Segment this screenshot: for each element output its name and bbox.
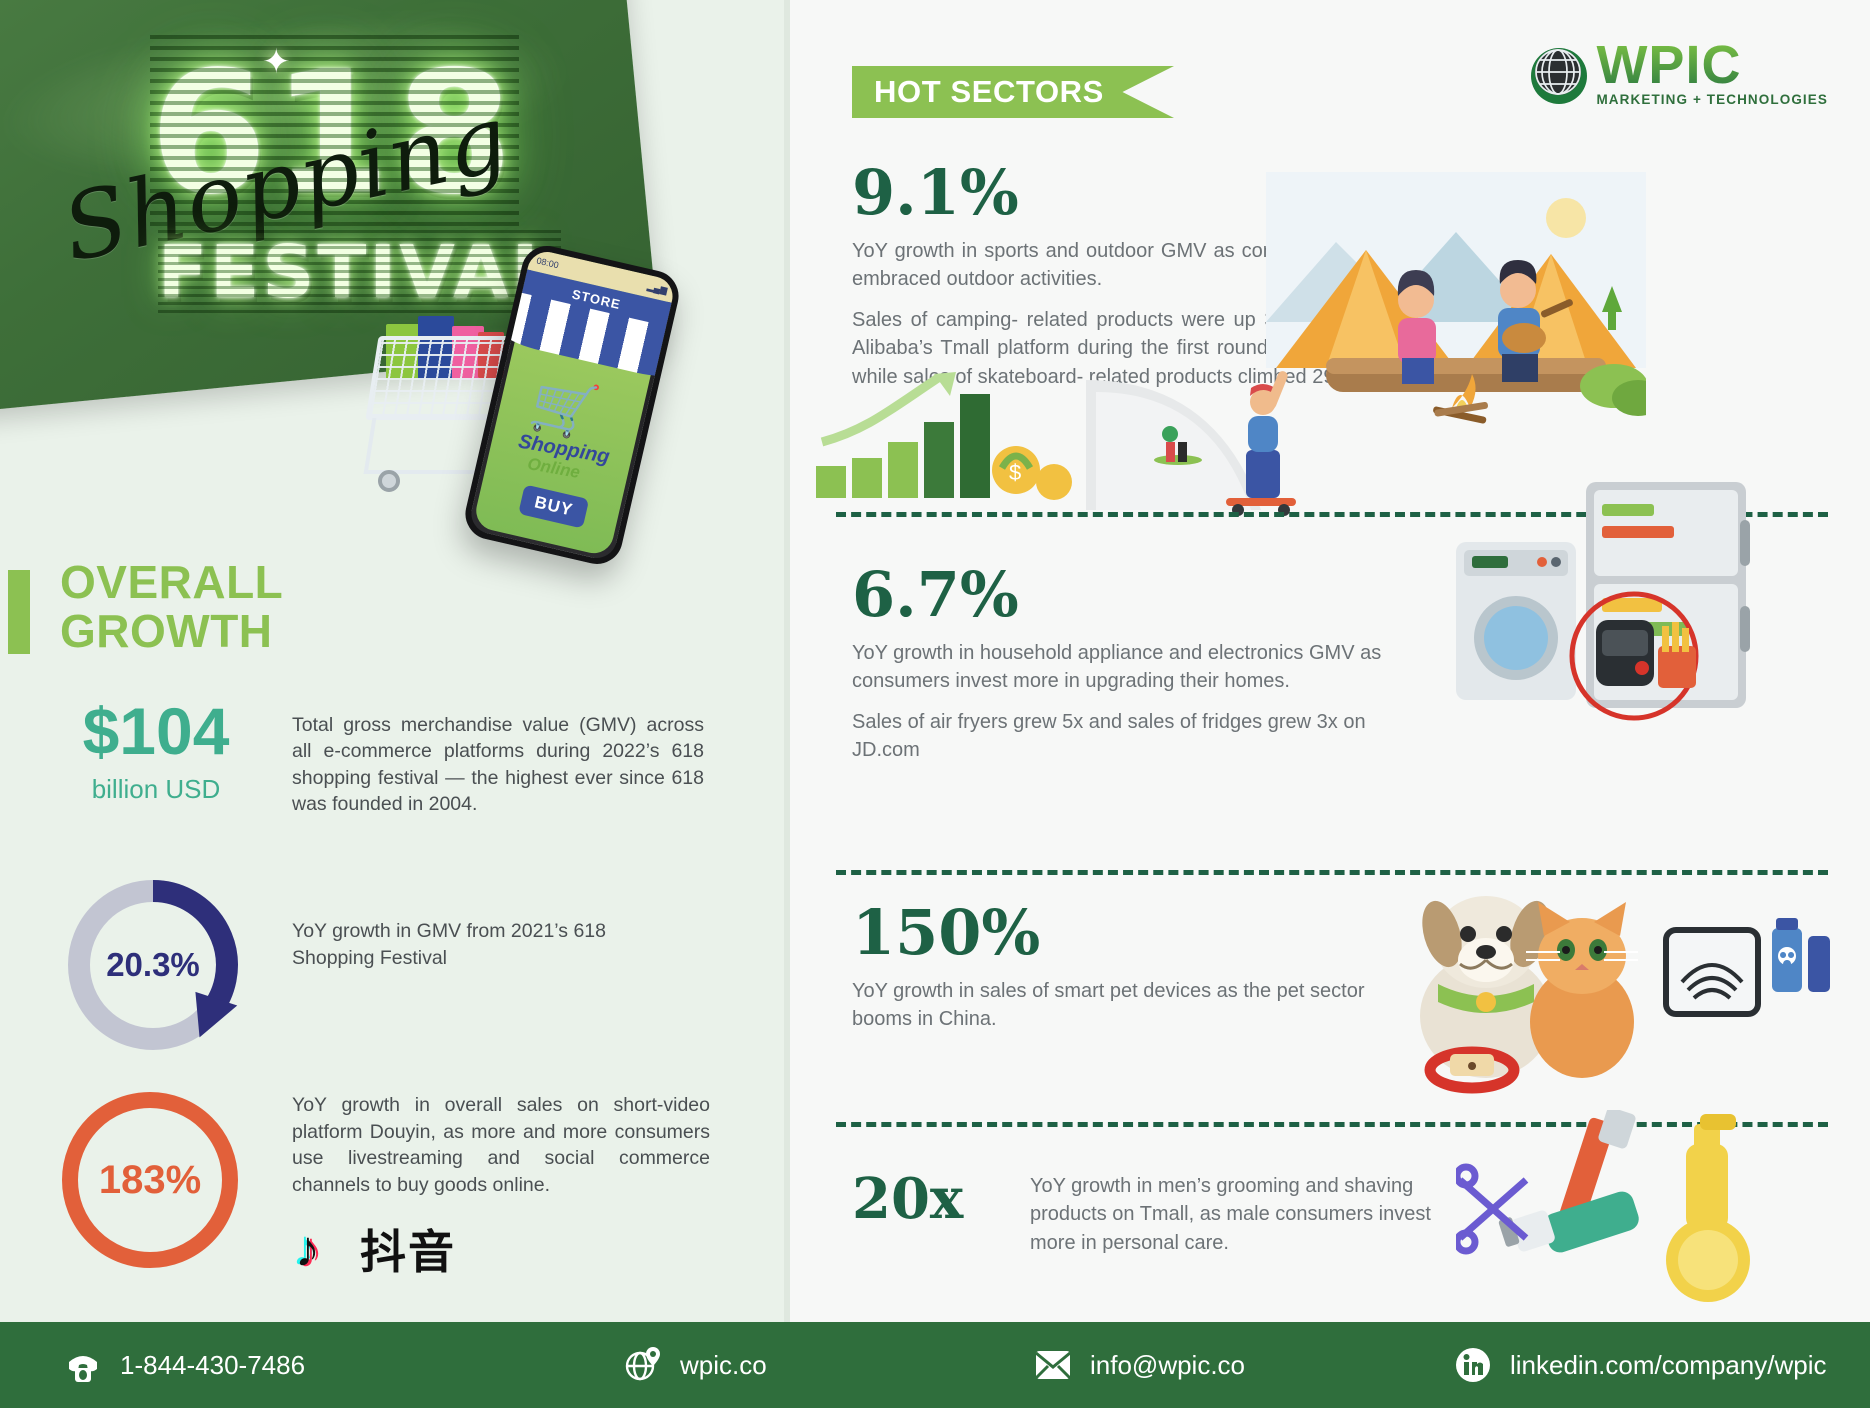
sector-smart-pet: 150% YoY growth in sales of smart pet de… xyxy=(852,900,1392,1034)
section-accent-bar xyxy=(8,570,30,654)
douyin-growth-ring: 183% xyxy=(62,1092,238,1268)
footer-bar: 1-844-430-7486 wpic.co xyxy=(0,1322,1870,1408)
ring-value-label: 183% xyxy=(99,1158,201,1203)
left-column: 618 ✦ ✦ Shopping FESTIVAL 08:00 ▂▄▆ STOR… xyxy=(0,0,790,1322)
phone-icon xyxy=(62,1344,104,1386)
sparkle-icon: ✦ xyxy=(262,42,291,82)
globe-pin-icon xyxy=(622,1344,664,1386)
sector-value: 6.7% xyxy=(852,562,1382,627)
douyin-note-icon: ♪♪♪ xyxy=(292,1221,348,1277)
overall-growth-title: OVERALL GROWTH xyxy=(60,558,480,656)
phone-time: 08:00 xyxy=(536,255,560,270)
footer-linkedin[interactable]: linkedin.com/company/wpic xyxy=(1452,1344,1826,1386)
infographic-page: 618 ✦ ✦ Shopping FESTIVAL 08:00 ▂▄▆ STOR… xyxy=(0,0,1870,1408)
footer-phone[interactable]: 1-844-430-7486 xyxy=(62,1344,482,1386)
growth-chart-illustration: $ xyxy=(816,370,1076,520)
douyin-chinese-label: 抖音 xyxy=(360,1216,456,1282)
sector-text-primary: YoY growth in sales of smart pet devices… xyxy=(852,977,1392,1034)
sector-text-primary: YoY growth in men’s grooming and shaving… xyxy=(1030,1172,1470,1257)
footer-email-text: info@wpic.co xyxy=(1090,1350,1245,1381)
overall-growth-line1: OVERALL xyxy=(60,558,480,607)
camping-illustration xyxy=(1266,172,1646,442)
wpic-logo: WPIC MARKETING + TECHNOLOGIES xyxy=(1528,38,1828,105)
footer-website[interactable]: wpic.co xyxy=(622,1344,1002,1386)
hero-festival-word: FESTIVAL xyxy=(158,230,561,314)
pets-illustration xyxy=(1376,856,1836,1096)
globe-icon xyxy=(1528,43,1590,105)
footer-linkedin-text: linkedin.com/company/wpic xyxy=(1510,1350,1826,1381)
wpic-name: WPIC xyxy=(1596,40,1828,91)
sector-text-secondary: Sales of air fryers grew 5x and sales of… xyxy=(852,708,1382,765)
donut-description: YoY growth in GMV from 2021’s 618 Shoppi… xyxy=(292,918,692,972)
sector-appliance-electronics: 6.7% YoY growth in household appliance a… xyxy=(852,562,1382,765)
gmv-unit: billion USD xyxy=(56,774,256,805)
donut-value-label: 20.3% xyxy=(58,870,248,1060)
gmv-stat: $104 billion USD xyxy=(56,698,256,805)
gmv-value: $104 xyxy=(56,698,256,764)
mail-icon xyxy=(1032,1344,1074,1386)
overall-growth-line2: GROWTH xyxy=(60,607,480,656)
cart-wheel xyxy=(378,470,400,492)
appliances-illustration xyxy=(1396,480,1836,730)
right-column: HOT SECTORS WPIC MARKETING + T xyxy=(796,0,1870,1322)
hot-sectors-ribbon: HOT SECTORS xyxy=(852,66,1174,118)
linkedin-icon xyxy=(1452,1344,1494,1386)
gmv-description: Total gross merchandise value (GMV) acro… xyxy=(292,712,704,817)
sector-text-primary: YoY growth in household appliance and el… xyxy=(852,639,1382,696)
footer-website-text: wpic.co xyxy=(680,1350,767,1381)
signal-icon: ▂▄▆ xyxy=(646,281,668,296)
sector-value: 20x xyxy=(852,1170,1002,1229)
gmv-growth-donut: 20.3% xyxy=(58,870,248,1060)
footer-email[interactable]: info@wpic.co xyxy=(1032,1344,1432,1386)
wpic-wordmark: WPIC MARKETING + TECHNOLOGIES xyxy=(1596,40,1828,107)
grooming-illustration xyxy=(1456,1110,1856,1310)
sector-mens-grooming: YoY growth in men’s grooming and shaving… xyxy=(1030,1172,1470,1257)
douyin-logo: ♪♪♪ 抖音 xyxy=(292,1216,456,1282)
svg-text:$: $ xyxy=(1009,460,1021,485)
wpic-tagline: MARKETING + TECHNOLOGIES xyxy=(1596,92,1828,107)
sector-mens-grooming-value: 20x xyxy=(852,1170,1002,1229)
douyin-description: YoY growth in overall sales on short-vid… xyxy=(292,1092,710,1198)
footer-phone-text: 1-844-430-7486 xyxy=(120,1350,305,1381)
sector-value: 150% xyxy=(852,900,1392,965)
